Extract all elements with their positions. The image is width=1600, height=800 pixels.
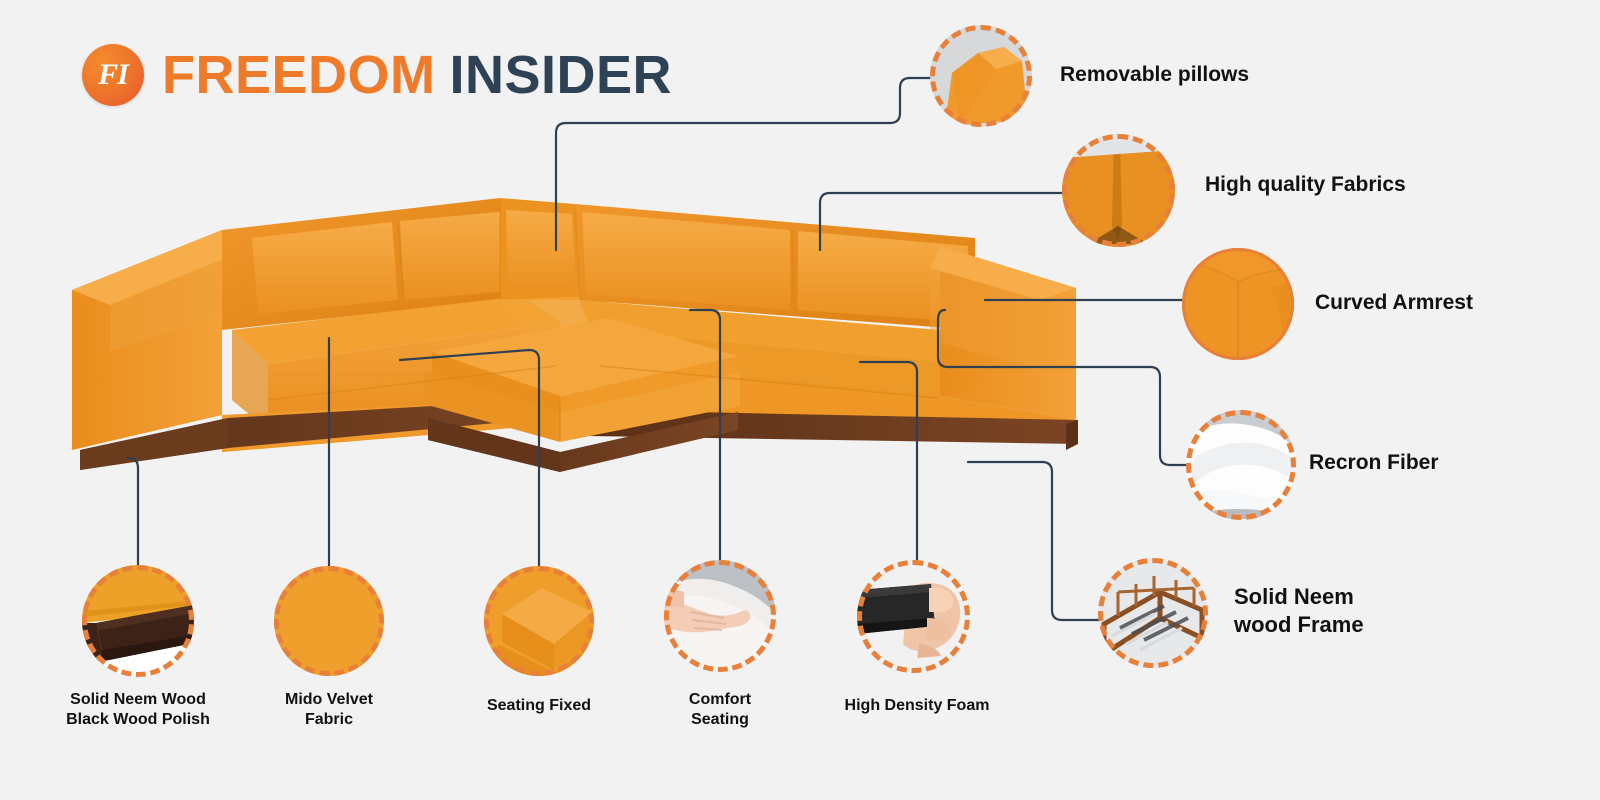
callout-ring-seating-fixed [484, 566, 594, 676]
callout-ring-solid-neem-wood-frame [1098, 558, 1208, 668]
callout-label-comfort-seating: Comfort Seating [630, 690, 810, 731]
brand-header: FI FREEDOMINSIDER [82, 44, 672, 106]
connector-lines [0, 0, 1600, 800]
page-title: FREEDOMINSIDER [162, 48, 672, 102]
callout-ring-high-density-foam [857, 560, 970, 673]
callout-label-removable-pillows: Removable pillows [1060, 62, 1249, 89]
callout-label-solid-neem-wood-frame: Solid Neem wood Frame [1234, 583, 1364, 639]
callout-ring-high-quality-fabrics [1062, 134, 1175, 247]
callout-label-seating-fixed: Seating Fixed [449, 696, 629, 716]
brand-word-freedom: FREEDOM [162, 45, 436, 105]
callout-ring-comfort-seating [664, 560, 776, 672]
callout-ring-mido-velvet-fabric [274, 566, 384, 676]
callout-ring-solid-neem-wood-black-wood-polish [82, 565, 194, 677]
infographic-canvas: Removable pillows High quality Fabrics C… [0, 0, 1600, 800]
callout-label-high-density-foam: High Density Foam [827, 696, 1007, 716]
callout-label-recron-fiber: Recron Fiber [1309, 450, 1439, 477]
callout-label-solid-neem-wood-black-wood-polish: Solid Neem Wood Black Wood Polish [38, 690, 238, 731]
callout-ring-removable-pillows [930, 25, 1032, 127]
callout-ring-curved-armrest [1182, 248, 1294, 360]
callout-label-mido-velvet-fabric: Mido Velvet Fabric [239, 690, 419, 731]
brand-word-insider: INSIDER [450, 45, 673, 105]
callout-ring-recron-fiber [1186, 410, 1296, 520]
callout-label-high-quality-fabrics: High quality Fabrics [1205, 172, 1406, 199]
callout-label-curved-armrest: Curved Armrest [1315, 290, 1473, 317]
logo-monogram: FI [82, 44, 144, 106]
freedom-insider-logo-icon: FI [82, 44, 144, 106]
